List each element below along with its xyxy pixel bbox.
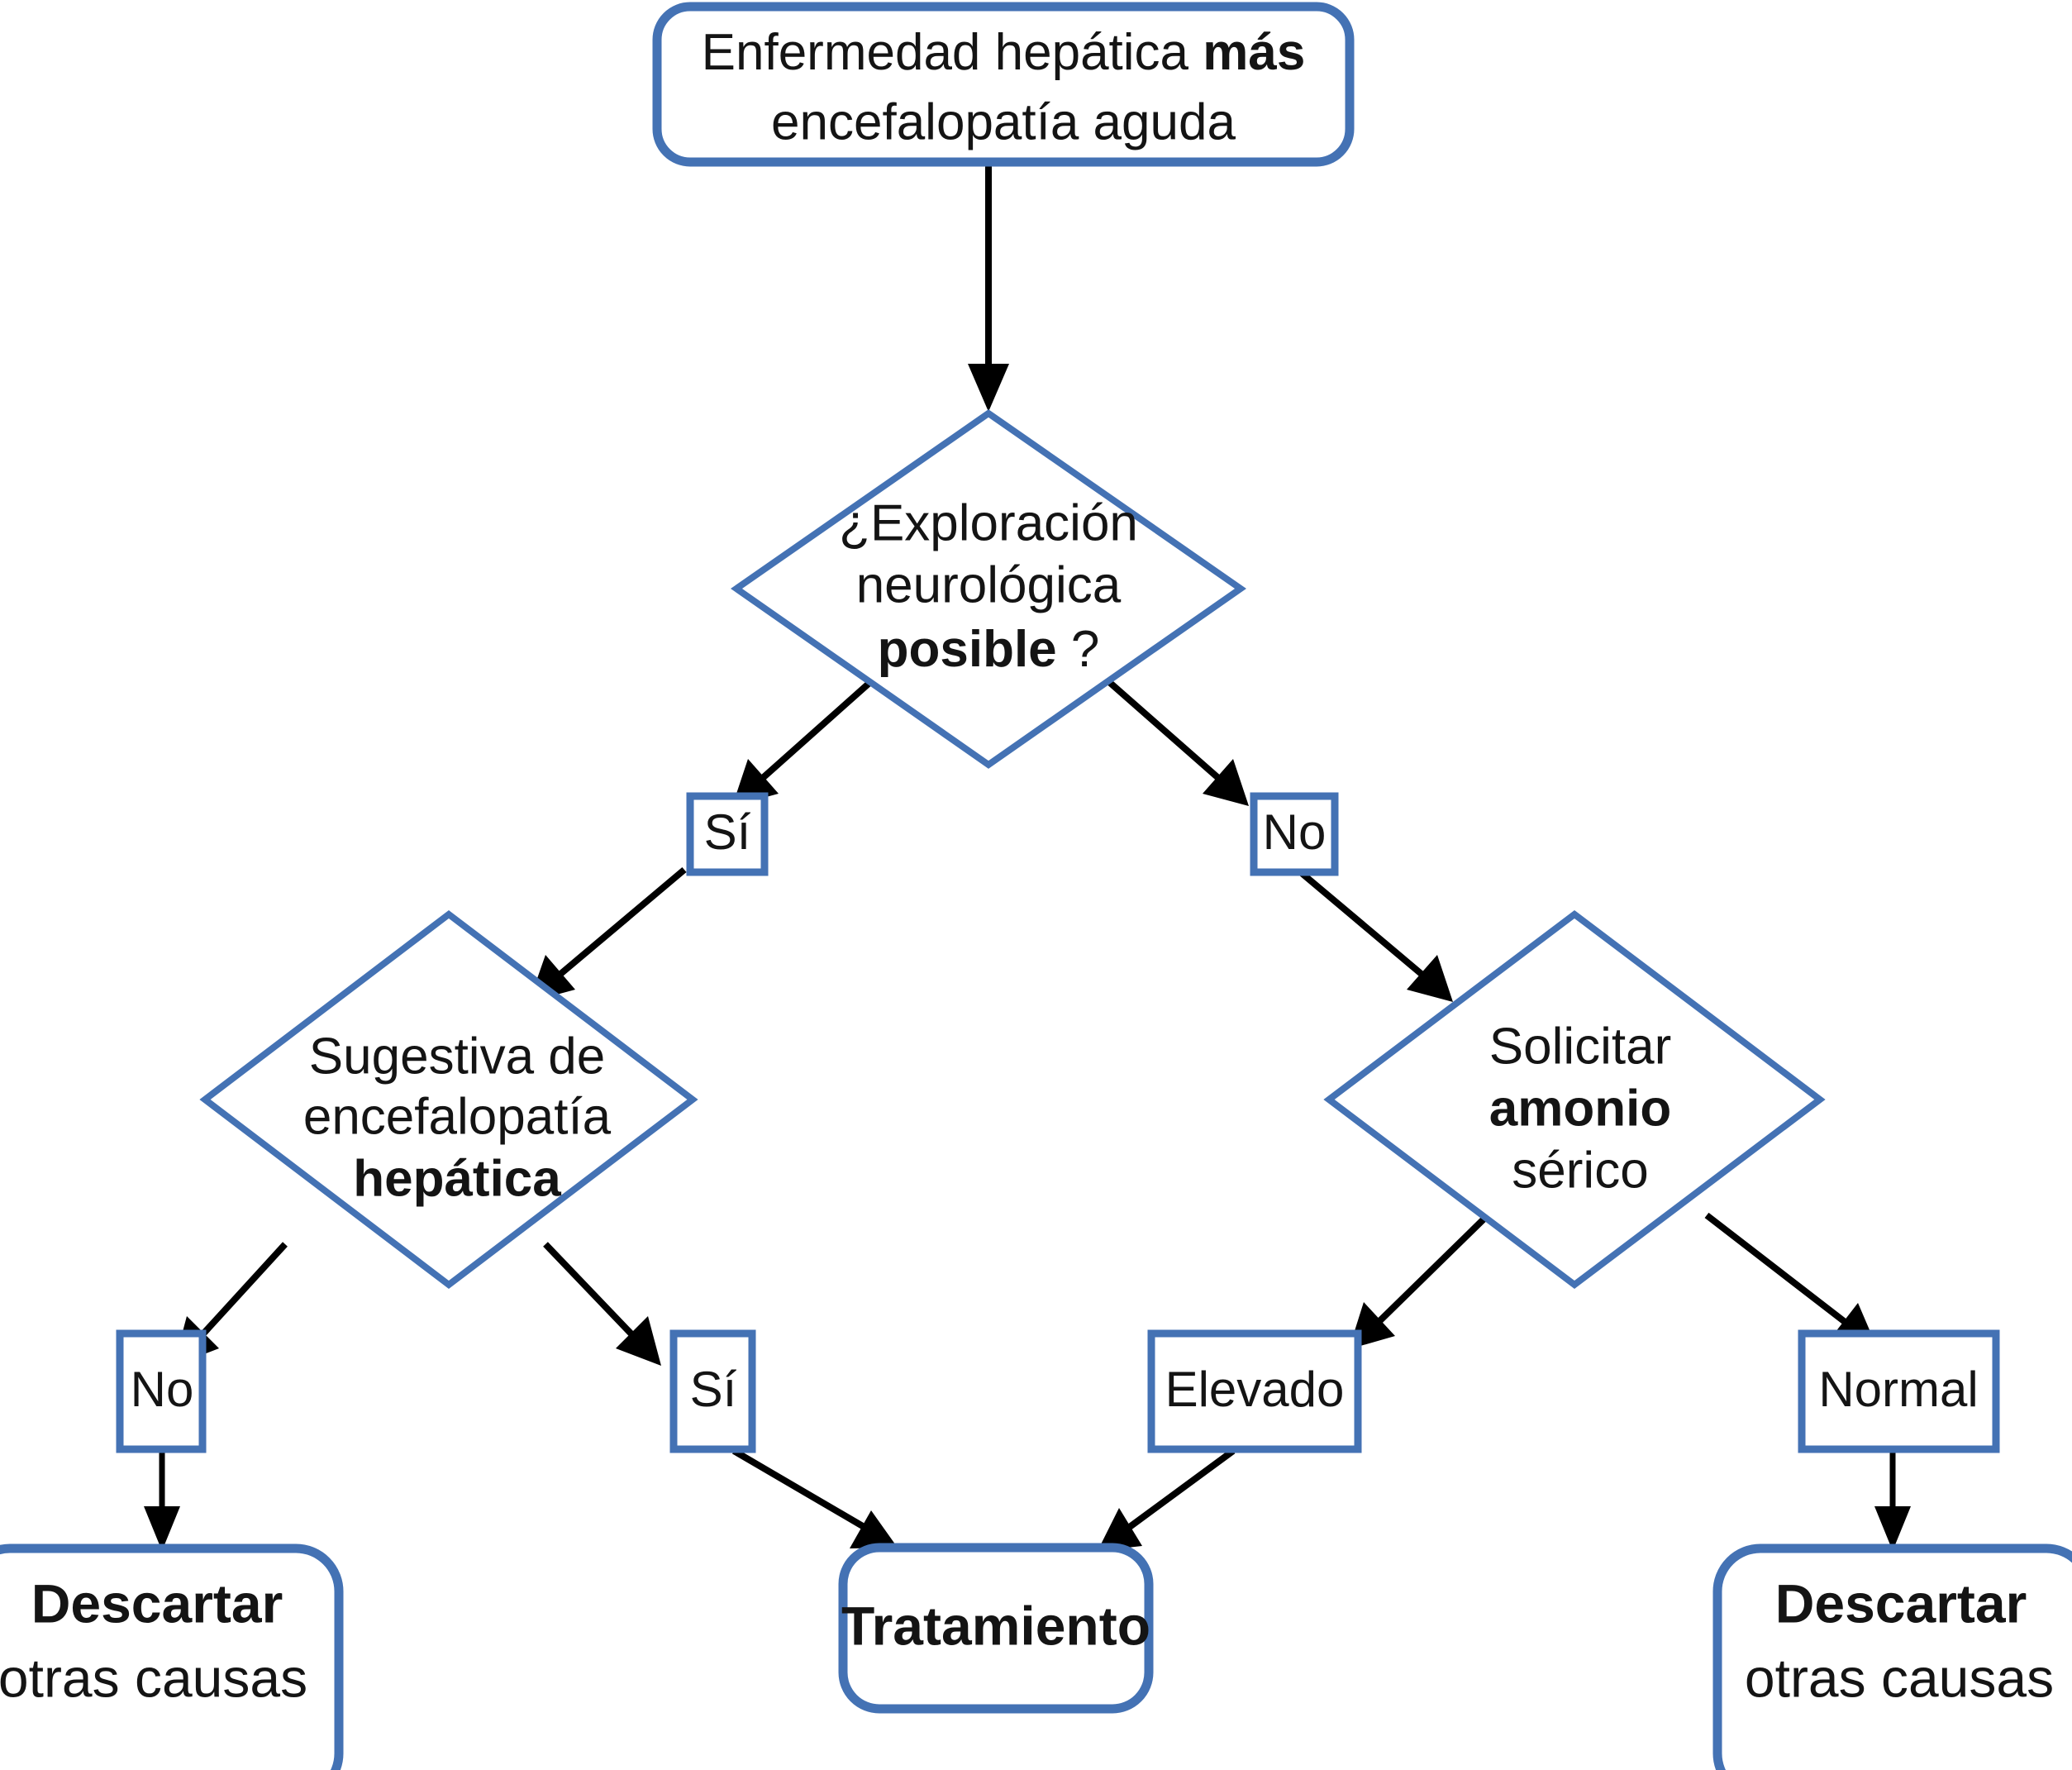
edge-label-amonio-normal-text: Normal	[1818, 1362, 1978, 1417]
node-end-descartar-left[interactable]: Descartar otras causas	[0, 1548, 339, 1770]
edge-amonio-to-normal	[1707, 1215, 1878, 1349]
edge-neuro-to-si	[732, 670, 884, 806]
start-line-1: Enfermedad hepática más	[702, 24, 1306, 81]
decision-neuro-line-1: ¿Exploración	[839, 494, 1138, 551]
edge-neuro-to-no	[1095, 670, 1249, 806]
node-decision-sugestiva[interactable]: Sugestiva de encefalopatía hepática	[205, 914, 693, 1285]
decision-sugestiva-line-3: hepática	[353, 1150, 561, 1207]
edge-label-amonio-elevado-text: Elevado	[1165, 1362, 1345, 1417]
edge-si-to-sugestiva	[529, 870, 684, 1002]
edge-label-neuro-si[interactable]: Sí	[690, 796, 764, 872]
end-descartar-right-line-2: otras causas	[1745, 1647, 2054, 1708]
edge-normal-to-descartar-right	[1874, 1448, 1911, 1551]
edge-label-neuro-no-text: No	[1263, 804, 1327, 860]
edge-no-to-amonio	[1298, 870, 1453, 1002]
edge-label-neuro-si-text: Sí	[704, 804, 751, 860]
end-descartar-left-line-1: Descartar	[31, 1572, 283, 1634]
flowchart-svg: Enfermedad hepática más encefalopatía ag…	[0, 0, 2072, 1770]
flowchart-canvas: Enfermedad hepática más encefalopatía ag…	[0, 0, 2072, 1770]
node-end-descartar-right[interactable]: Descartar otras causas	[1717, 1548, 2072, 1770]
edge-label-sugestiva-no[interactable]: No	[120, 1333, 202, 1449]
end-descartar-left-line-2: otras causas	[0, 1647, 307, 1708]
edge-label-sugestiva-si-text: Sí	[690, 1362, 737, 1417]
node-end-tratamiento[interactable]: Tratamiento	[841, 1548, 1150, 1709]
edge-label-neuro-no[interactable]: No	[1254, 796, 1335, 872]
edge-si-to-tratamiento	[734, 1451, 898, 1548]
decision-amonio-line-3: sérico	[1512, 1142, 1648, 1199]
edge-elevado-to-tratamiento	[1098, 1451, 1233, 1551]
node-decision-amonio[interactable]: Solicitar amonio sérico	[1329, 914, 1820, 1285]
decision-amonio-line-1: Solicitar	[1489, 1018, 1672, 1075]
edge-label-amonio-normal[interactable]: Normal	[1802, 1333, 1996, 1449]
start-line-2: encefalopatía aguda	[771, 93, 1236, 150]
edge-start-to-neuro	[968, 162, 1009, 412]
decision-sugestiva-line-2: encefalopatía	[303, 1088, 612, 1145]
decision-neuro-line-2: neurológica	[856, 556, 1122, 613]
end-descartar-right-line-1: Descartar	[1775, 1572, 2027, 1634]
edge-label-sugestiva-si[interactable]: Sí	[674, 1333, 752, 1449]
node-decision-neuro[interactable]: ¿Exploración neurológica posible ?	[736, 413, 1241, 765]
edge-label-sugestiva-no-text: No	[131, 1362, 194, 1417]
decision-amonio-line-2: amonio	[1489, 1080, 1671, 1137]
end-tratamiento-line-1: Tratamiento	[841, 1595, 1150, 1656]
node-start[interactable]: Enfermedad hepática más encefalopatía ag…	[657, 7, 1350, 162]
edge-no-to-descartar-left	[144, 1448, 180, 1551]
edge-label-amonio-elevado[interactable]: Elevado	[1151, 1333, 1358, 1449]
decision-neuro-line-3: posible ?	[878, 621, 1100, 678]
edge-amonio-to-elevado	[1349, 1215, 1488, 1349]
decision-sugestiva-line-1: Sugestiva de	[309, 1028, 605, 1085]
edge-sugestiva-to-si	[545, 1244, 661, 1366]
